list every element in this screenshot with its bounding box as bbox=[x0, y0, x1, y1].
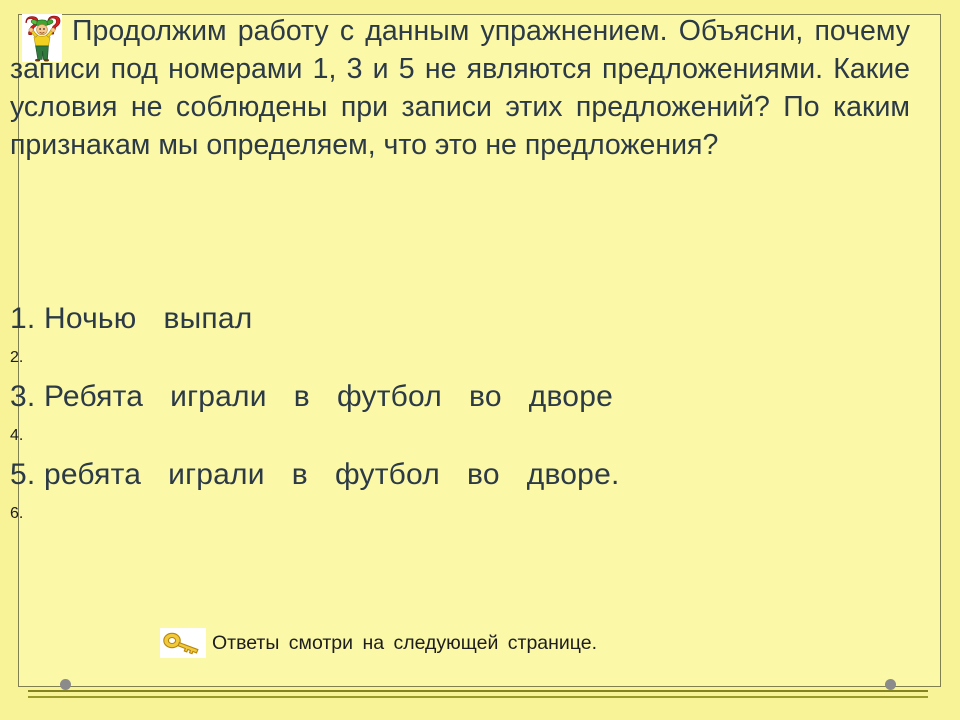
intro-paragraph: Продолжим работу с данным упражнением. О… bbox=[10, 12, 910, 164]
list-item: 6. bbox=[10, 499, 900, 529]
decorative-rule-top bbox=[28, 690, 928, 692]
list-item-number: 5. bbox=[10, 451, 44, 499]
list-item: 4. bbox=[10, 421, 900, 451]
list-item-number: 4. bbox=[10, 421, 44, 451]
answers-note-text: Ответы смотри на следующей странице. bbox=[212, 632, 597, 655]
decorative-dot-right bbox=[885, 679, 896, 690]
list-item: 1. Ночью выпал bbox=[10, 295, 900, 343]
list-item-text: Ребята играли в футбол во дворе bbox=[44, 373, 613, 421]
list-item-number: 3. bbox=[10, 373, 44, 421]
list-item: 5. ребята играли в футбол во дворе. bbox=[10, 451, 900, 499]
answers-note: Ответы смотри на следующей странице. bbox=[160, 628, 597, 658]
list-item: 2. bbox=[10, 343, 900, 373]
list-item-number: 6. bbox=[10, 499, 44, 529]
list-item: 3. Ребята играли в футбол во дворе bbox=[10, 373, 900, 421]
intro-text: Продолжим работу с данным упражнением. О… bbox=[10, 15, 910, 161]
list-item-number: 1. bbox=[10, 295, 44, 343]
decorative-rule-bottom bbox=[28, 696, 928, 698]
decorative-dot-left bbox=[60, 679, 71, 690]
slide-canvas: Продолжим работу с данным упражнением. О… bbox=[0, 0, 960, 720]
list-item-text: ребята играли в футбол во дворе. bbox=[44, 451, 620, 499]
exercise-list: 1. Ночью выпал 2. 3. Ребята играли в фут… bbox=[10, 295, 900, 529]
thinking-boy-icon bbox=[22, 14, 62, 62]
golden-key-icon bbox=[160, 628, 206, 658]
list-item-number: 2. bbox=[10, 343, 44, 373]
list-item-text: Ночью выпал bbox=[44, 295, 252, 343]
